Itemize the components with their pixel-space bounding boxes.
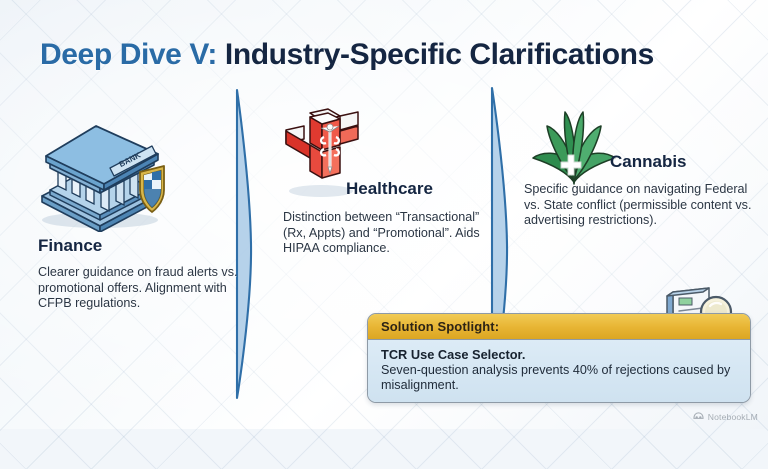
page-title-main: Industry-Specific Clarifications xyxy=(225,38,654,71)
column-heading-finance: Finance xyxy=(38,236,238,256)
column-healthcare: Healthcare Distinction between “Transact… xyxy=(283,179,498,257)
spotlight-header: Solution Spotlight: xyxy=(368,314,750,340)
bank-icon: BANK xyxy=(34,112,184,232)
page-title: Deep Dive V: Industry-Specific Clarifica… xyxy=(40,38,654,72)
spotlight-header-label: Solution Spotlight: xyxy=(381,319,499,334)
watermark-label: NotebookLM xyxy=(708,412,758,422)
column-body-cannabis: Specific guidance on navigating Federal … xyxy=(524,182,759,229)
spotlight-title: TCR Use Case Selector. xyxy=(381,347,737,362)
spotlight-body: TCR Use Case Selector. Seven-question an… xyxy=(368,340,750,402)
column-cannabis: Cannabis Specific guidance on navigating… xyxy=(524,152,759,229)
spotlight-text: Seven-question analysis prevents 40% of … xyxy=(381,363,737,393)
column-body-healthcare: Distinction between “Transactional” (Rx,… xyxy=(283,210,498,257)
column-heading-cannabis: Cannabis xyxy=(610,152,759,172)
column-heading-healthcare: Healthcare xyxy=(346,179,498,199)
column-finance: Finance Clearer guidance on fraud alerts… xyxy=(38,236,238,312)
watermark: NotebookLM xyxy=(693,411,758,422)
notebooklm-logo-icon xyxy=(693,411,704,422)
column-body-finance: Clearer guidance on fraud alerts vs. pro… xyxy=(38,265,238,312)
solution-spotlight-card: Solution Spotlight: TCR Use Case Selecto… xyxy=(367,313,751,403)
page-title-accent: Deep Dive V: xyxy=(40,38,217,71)
slide-stage: Deep Dive V: Industry-Specific Clarifica… xyxy=(0,0,768,429)
